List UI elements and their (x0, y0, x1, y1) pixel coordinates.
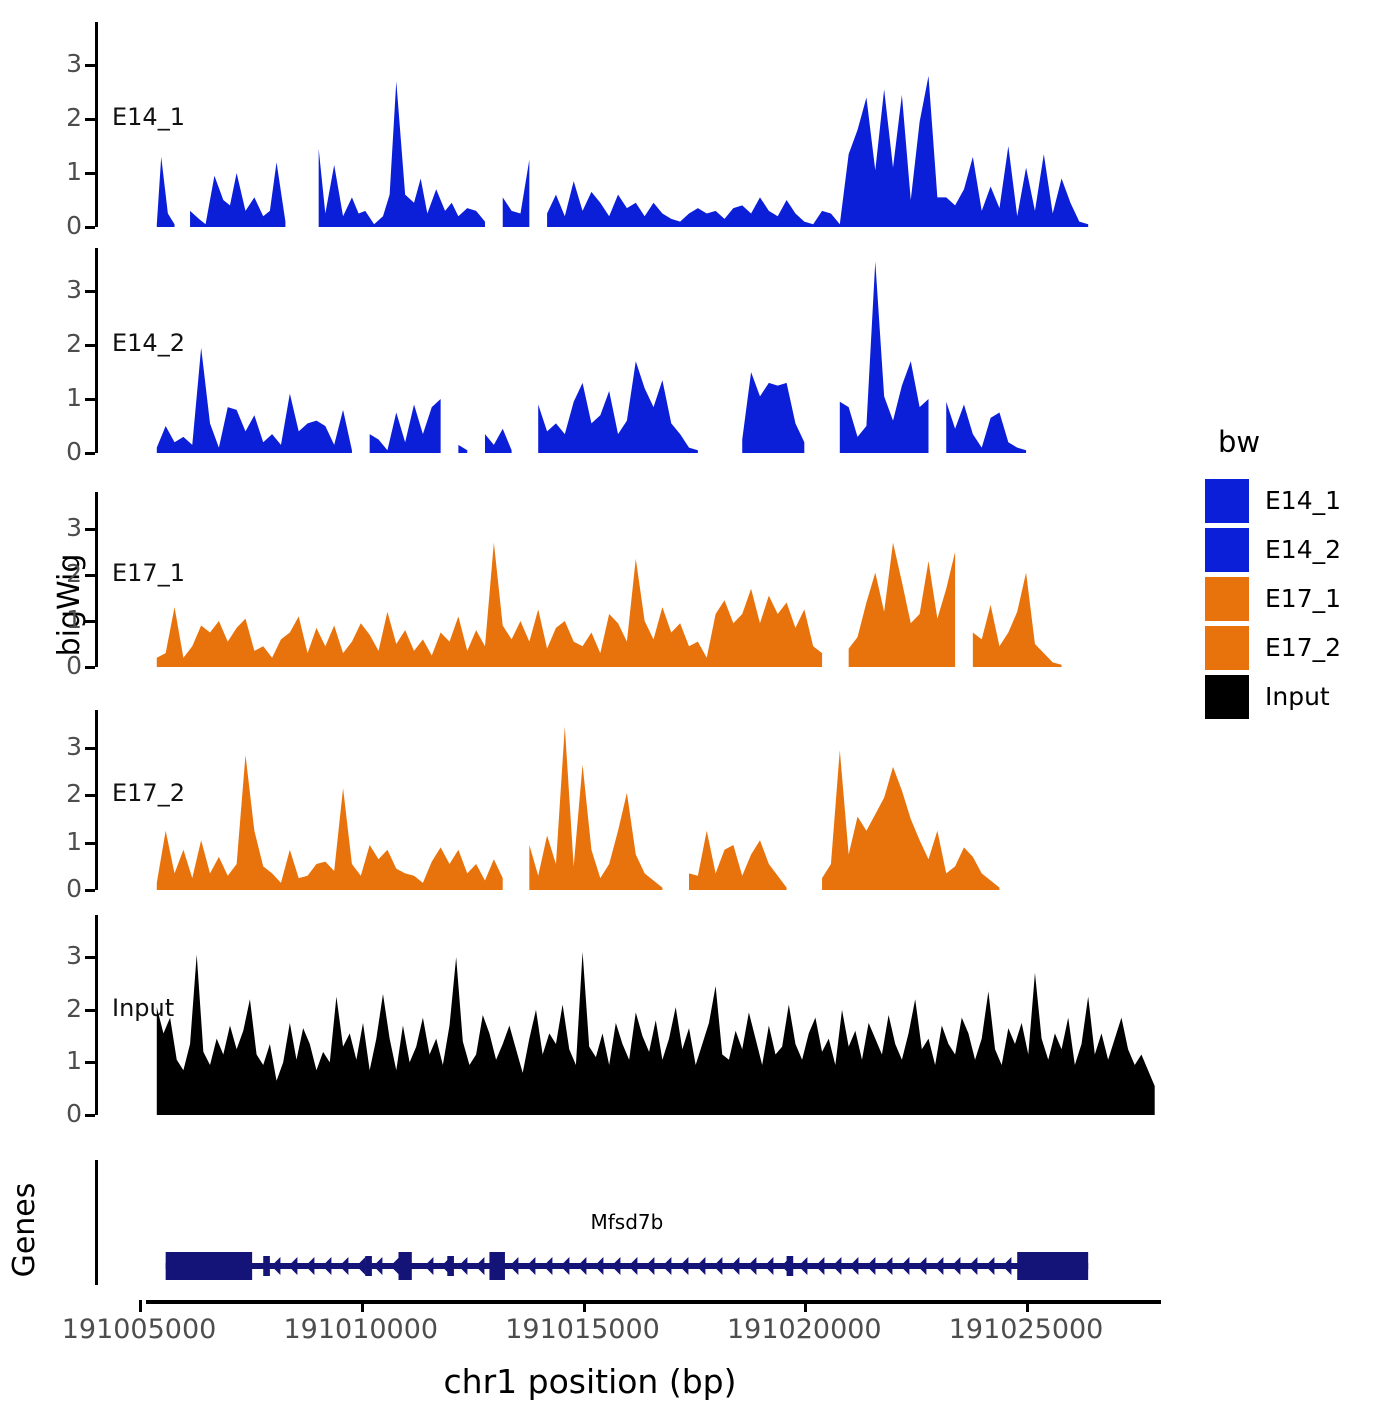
gene-strand-arrow-icon (679, 1257, 688, 1275)
y-tick-label-e14_1-0: 0 (20, 213, 82, 238)
gene-strand-arrow-icon (832, 1257, 841, 1275)
signal-segment (157, 157, 175, 227)
signal-segment (485, 429, 512, 453)
y-tick-label-e17_1-0: 0 (20, 653, 82, 678)
y-tick-label-input-3: 3 (20, 943, 82, 968)
signal-segment (689, 831, 787, 890)
y-tick-e14_2-3 (85, 290, 95, 293)
y-tick-label-e14_1-2: 2 (20, 105, 82, 130)
genes-axis-line (95, 1160, 98, 1285)
plot-area-e14_1 (108, 22, 1168, 227)
signal-segment (529, 727, 662, 890)
y-tick-label-e17_2-3: 3 (20, 734, 82, 759)
gene-exon (263, 1256, 270, 1276)
signal-segment (157, 348, 352, 453)
x-tick-label-191025000: 191025000 (906, 1314, 1146, 1345)
y-axis-line-e14_1 (95, 22, 98, 227)
signal-area-input (108, 915, 1168, 1115)
legend-item-e17_1[interactable]: E17_1 (1205, 575, 1395, 622)
signal-area-e14_1 (108, 22, 1168, 227)
gene-strand-arrow-icon (866, 1257, 875, 1275)
y-tick-input-0 (85, 1114, 95, 1117)
gene-strand-arrow-icon (271, 1257, 280, 1275)
legend: bw E14_1E14_2E17_1E17_2Input (1205, 425, 1395, 722)
legend-label-e14_1: E14_1 (1265, 486, 1341, 515)
legend-label-e17_2: E17_2 (1265, 633, 1341, 662)
legend-label-e14_2: E14_2 (1265, 535, 1341, 564)
y-tick-e14_1-1 (85, 172, 95, 175)
legend-swatch-e14_1 (1205, 479, 1249, 523)
y-tick-label-input-1: 1 (20, 1048, 82, 1073)
x-axis-line (146, 1300, 1161, 1304)
x-axis: 1910050001910100001910150001910200001910… (0, 1300, 1400, 1420)
gene-strand-arrow-icon (305, 1257, 314, 1275)
y-axis-line-e14_2 (95, 248, 98, 453)
gene-intron-line (166, 1263, 1089, 1269)
plot-area-e17_1 (108, 492, 1168, 667)
x-tick-191020000 (804, 1300, 807, 1312)
gene-strand-arrow-icon (543, 1257, 552, 1275)
y-tick-e14_1-0 (85, 226, 95, 229)
track-panel-e14_2: 0123E14_2 (0, 248, 1180, 453)
y-axis-line-e17_1 (95, 492, 98, 667)
gene-strand-arrow-icon (798, 1257, 807, 1275)
gene-strand-arrow-icon (883, 1257, 892, 1275)
signal-segment (319, 81, 485, 227)
signal-segment (157, 755, 503, 890)
y-tick-label-e17_1-1: 1 (20, 607, 82, 632)
gene-strand-arrow-icon (815, 1257, 824, 1275)
gene-exon (365, 1256, 372, 1276)
x-tick-label-191020000: 191020000 (684, 1314, 924, 1345)
legend-items: E14_1E14_2E17_1E17_2Input (1205, 477, 1395, 720)
gene-strand-arrow-icon (951, 1257, 960, 1275)
y-tick-e14_1-2 (85, 118, 95, 121)
gene-strand-arrow-icon (577, 1257, 586, 1275)
signal-area-e17_1 (108, 492, 1168, 667)
x-tick-191015000 (583, 1300, 586, 1312)
y-tick-e14_1-3 (85, 64, 95, 67)
signal-segment (370, 399, 441, 453)
signal-area-e14_2 (108, 248, 1168, 453)
gene-strand-arrow-icon (900, 1257, 909, 1275)
track-panel-e17_1: 0123E17_1 (0, 492, 1180, 667)
y-tick-label-e17_1-3: 3 (20, 515, 82, 540)
y-tick-label-e14_2-2: 2 (20, 331, 82, 356)
gene-exon (489, 1252, 505, 1280)
gene-strand-arrow-icon (662, 1257, 671, 1275)
y-tick-label-e17_2-1: 1 (20, 829, 82, 854)
signal-segment (458, 445, 467, 453)
track-panel-e14_1: 0123E14_1 (0, 22, 1180, 227)
track-panel-input: 0123Input (0, 915, 1180, 1115)
plot-area-e14_2 (108, 248, 1168, 453)
y-tick-label-e14_2-0: 0 (20, 439, 82, 464)
gene-strand-arrow-icon (475, 1257, 484, 1275)
gene-strand-arrow-icon (458, 1257, 467, 1275)
gene-strand-arrow-icon (424, 1257, 433, 1275)
y-axis-line-input (95, 915, 98, 1115)
plot-area-e17_2 (108, 710, 1168, 890)
signal-segment (190, 162, 285, 227)
y-tick-label-e14_1-1: 1 (20, 159, 82, 184)
y-tick-e17_1-1 (85, 620, 95, 623)
y-tick-e17_2-0 (85, 889, 95, 892)
y-tick-e17_2-3 (85, 747, 95, 750)
y-tick-input-2 (85, 1009, 95, 1012)
legend-swatch-e17_1 (1205, 577, 1249, 621)
legend-label-e17_1: E17_1 (1265, 584, 1341, 613)
signal-segment (849, 543, 955, 667)
signal-segment (503, 160, 530, 227)
signal-segment (840, 261, 929, 453)
gene-strand-arrow-icon (985, 1257, 994, 1275)
gene-strand-arrow-icon (322, 1257, 331, 1275)
legend-item-input[interactable]: Input (1205, 673, 1395, 720)
legend-label-input: Input (1265, 682, 1330, 711)
gene-strand-arrow-icon (560, 1257, 569, 1275)
y-tick-label-e14_2-1: 1 (20, 385, 82, 410)
gene-strand-arrow-icon (373, 1257, 382, 1275)
legend-swatch-e17_2 (1205, 626, 1249, 670)
signal-segment (973, 573, 1062, 667)
gene-strand-arrow-icon (713, 1257, 722, 1275)
y-tick-e17_2-2 (85, 794, 95, 797)
gene-exon (399, 1252, 412, 1280)
gene-strand-arrow-icon (441, 1257, 450, 1275)
legend-swatch-input (1205, 675, 1249, 719)
signal-segment (157, 543, 822, 667)
signal-segment (822, 750, 999, 890)
gene-label: Mfsd7b (567, 1210, 687, 1234)
gene-strand-arrow-icon (968, 1257, 977, 1275)
y-tick-label-e14_2-3: 3 (20, 277, 82, 302)
y-tick-label-e17_2-0: 0 (20, 876, 82, 901)
y-tick-e17_1-0 (85, 666, 95, 669)
y-tick-e17_2-1 (85, 842, 95, 845)
gene-strand-arrow-icon (730, 1257, 739, 1275)
gene-strand-arrow-icon (645, 1257, 654, 1275)
gene-strand-arrow-icon (781, 1257, 790, 1275)
gene-strand-arrow-icon (611, 1257, 620, 1275)
gene-strand-arrow-icon (764, 1257, 773, 1275)
x-tick-label-191005000: 191005000 (19, 1314, 259, 1345)
legend-swatch-e14_2 (1205, 528, 1249, 572)
y-tick-label-input-2: 2 (20, 996, 82, 1021)
gene-strand-arrow-icon (356, 1257, 365, 1275)
y-tick-e17_1-3 (85, 528, 95, 531)
legend-title: bw (1218, 425, 1395, 459)
legend-item-e14_2[interactable]: E14_2 (1205, 526, 1395, 573)
x-tick-label-191010000: 191010000 (241, 1314, 481, 1345)
legend-item-e17_2[interactable]: E17_2 (1205, 624, 1395, 671)
gene-strand-arrow-icon (594, 1257, 603, 1275)
y-tick-input-1 (85, 1061, 95, 1064)
signal-segment (538, 361, 698, 453)
y-tick-label-e17_1-2: 2 (20, 561, 82, 586)
y-tick-e14_2-0 (85, 452, 95, 455)
y-axis-line-e17_2 (95, 710, 98, 890)
x-tick-191025000 (1026, 1300, 1029, 1312)
y-tick-label-e14_1-3: 3 (20, 51, 82, 76)
y-tick-label-input-0: 0 (20, 1101, 82, 1126)
gene-strand-arrow-icon (339, 1257, 348, 1275)
gene-strand-arrow-icon (934, 1257, 943, 1275)
gene-strand-arrow-icon (917, 1257, 926, 1275)
gene-strand-arrow-icon (288, 1257, 297, 1275)
x-axis-title: chr1 position (bp) (0, 1362, 1180, 1401)
y-tick-input-3 (85, 956, 95, 959)
gene-strand-arrow-icon (1002, 1257, 1011, 1275)
gene-strand-arrow-icon (696, 1257, 705, 1275)
x-tick-191005000 (139, 1300, 142, 1312)
gene-strand-arrow-icon (747, 1257, 756, 1275)
gene-strand-arrow-icon (390, 1257, 399, 1275)
signal-segment (946, 402, 1026, 453)
track-panel-e17_2: 0123E17_2 (0, 710, 1180, 890)
gene-model[interactable] (108, 1246, 1168, 1286)
y-tick-e14_2-2 (85, 344, 95, 347)
signal-segment (742, 372, 804, 453)
gene-exon (166, 1252, 252, 1280)
y-tick-e17_1-2 (85, 574, 95, 577)
signal-segment (547, 76, 1088, 227)
gene-strand-arrow-icon (628, 1257, 637, 1275)
gene-exon (1017, 1252, 1088, 1280)
gene-strand-arrow-icon (509, 1257, 518, 1275)
x-tick-191010000 (361, 1300, 364, 1312)
y-tick-e14_2-1 (85, 398, 95, 401)
genes-panel: Mfsd7b (0, 1160, 1180, 1300)
y-tick-label-e17_2-2: 2 (20, 781, 82, 806)
signal-segment (157, 952, 1155, 1115)
plot-area-input (108, 915, 1168, 1115)
x-tick-label-191015000: 191015000 (463, 1314, 703, 1345)
gene-strand-arrow-icon (526, 1257, 535, 1275)
legend-item-e14_1[interactable]: E14_1 (1205, 477, 1395, 524)
signal-area-e17_2 (108, 710, 1168, 890)
gene-strand-arrow-icon (849, 1257, 858, 1275)
